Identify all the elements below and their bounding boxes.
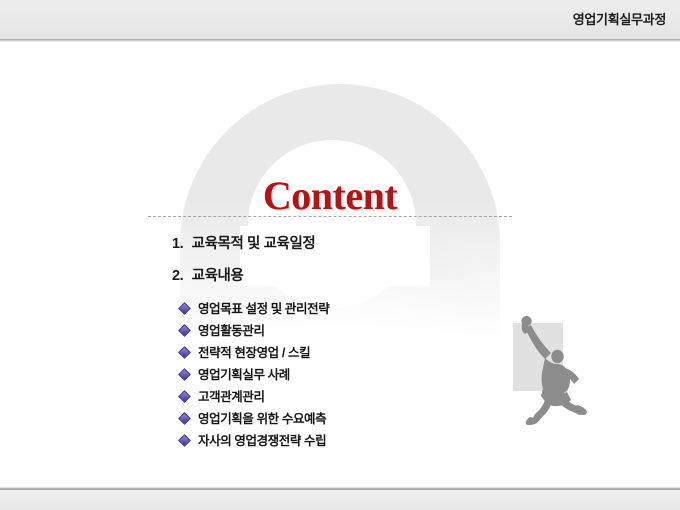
bullet-item-label: 고객관계관리 bbox=[198, 390, 265, 404]
list-item: 영업활동관리 bbox=[180, 320, 510, 341]
numbered-list: 1. 교육목적 및 교육일정 2. 교육내용 bbox=[172, 236, 502, 300]
numbered-list-item-label: 교육목적 및 교육일정 bbox=[192, 236, 316, 252]
list-item: 영업기획을 위한 수요예측 bbox=[180, 408, 510, 429]
title-divider-dashed-line bbox=[148, 216, 512, 217]
diamond-bullet-icon bbox=[178, 302, 191, 315]
bullet-item-label: 자사의 영업경쟁전략 수립 bbox=[198, 434, 326, 448]
diamond-bullet-icon bbox=[178, 368, 191, 381]
diamond-bullet-icon bbox=[178, 434, 191, 447]
diamond-bullet-icon bbox=[178, 390, 191, 403]
footer-bar bbox=[0, 490, 680, 510]
header-divider-rule bbox=[0, 39, 680, 42]
list-item: 자사의 영업경쟁전략 수립 bbox=[180, 430, 510, 451]
bullet-item-label: 영업활동관리 bbox=[198, 324, 265, 338]
page-title: Content bbox=[0, 172, 660, 219]
bullet-list: 영업목표 설정 및 관리전략 영업활동관리 전략적 현장영업 / 스킬 영업기획… bbox=[180, 298, 510, 452]
diamond-bullet-icon bbox=[178, 324, 191, 337]
numbered-list-item-label: 교육내용 bbox=[192, 268, 244, 284]
numbered-list-item-number: 2. bbox=[172, 268, 188, 285]
list-item: 영업기획실무 사례 bbox=[180, 364, 510, 385]
list-item: 고객관계관리 bbox=[180, 386, 510, 407]
diamond-bullet-icon bbox=[178, 346, 191, 359]
bullet-item-label: 영업목표 설정 및 관리전략 bbox=[198, 302, 329, 316]
slide-canvas: 영업기획실무과정 Content 1. 교육목적 및 교육일정 2. 교육내용 … bbox=[0, 0, 680, 510]
bullet-item-label: 전략적 현장영업 / 스킬 bbox=[198, 346, 310, 360]
list-item: 영업목표 설정 및 관리전략 bbox=[180, 298, 510, 319]
list-item: 전략적 현장영업 / 스킬 bbox=[180, 342, 510, 363]
numbered-list-item: 1. 교육목적 및 교육일정 bbox=[172, 236, 502, 253]
numbered-list-item: 2. 교육내용 bbox=[172, 268, 502, 285]
bullet-item-label: 영업기획을 위한 수요예측 bbox=[198, 412, 326, 426]
jumping-person-silhouette-icon bbox=[505, 312, 595, 427]
header-course-title: 영업기획실무과정 bbox=[573, 9, 666, 28]
bullet-item-label: 영업기획실무 사례 bbox=[198, 368, 290, 382]
decorative-figure bbox=[505, 312, 595, 427]
numbered-list-item-number: 1. bbox=[172, 236, 188, 253]
diamond-bullet-icon bbox=[178, 412, 191, 425]
